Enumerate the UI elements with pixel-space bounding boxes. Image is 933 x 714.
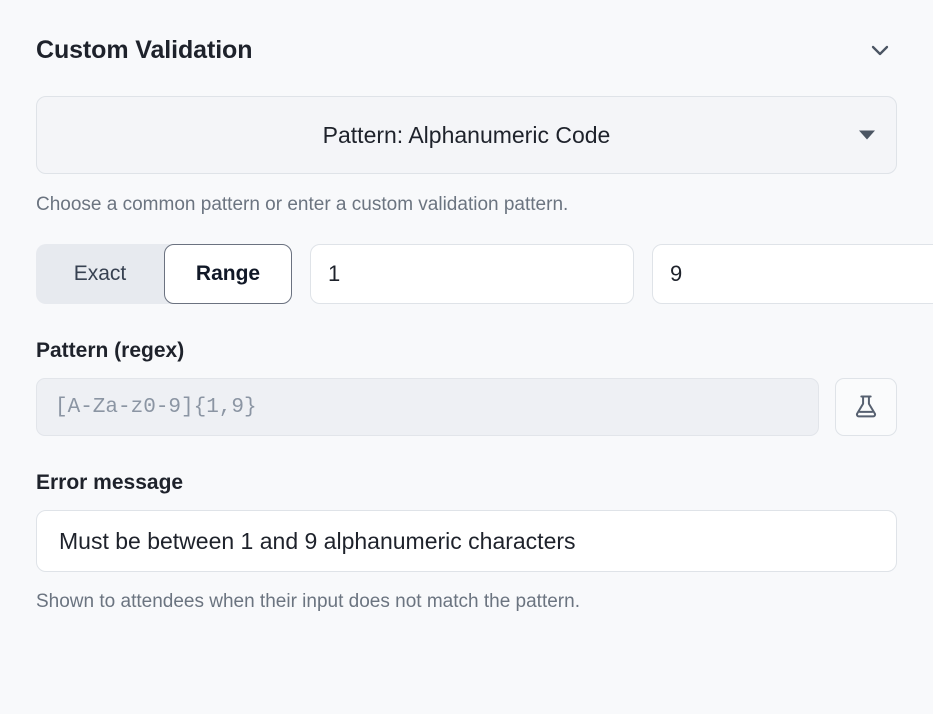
custom-validation-panel: Custom Validation Pattern: Alphanumeric …	[0, 0, 933, 714]
length-mode-row: Exact Range	[36, 244, 897, 304]
error-message-helper: Shown to attendees when their input does…	[36, 592, 897, 611]
pattern-field-row	[36, 378, 897, 436]
length-mode-exact-button[interactable]: Exact	[36, 244, 164, 304]
error-message-input[interactable]	[36, 510, 897, 572]
length-mode-segmented-control: Exact Range	[36, 244, 292, 304]
pattern-select[interactable]: Pattern: Alphanumeric Code	[36, 96, 897, 174]
flask-icon	[852, 393, 880, 421]
min-length-input[interactable]	[310, 244, 634, 304]
page-title: Custom Validation	[36, 38, 252, 63]
error-message-label: Error message	[36, 472, 897, 493]
section-header: Custom Validation	[36, 0, 897, 96]
pattern-select-helper: Choose a common pattern or enter a custo…	[36, 195, 897, 214]
max-length-input[interactable]	[652, 244, 933, 304]
test-pattern-button[interactable]	[835, 378, 897, 436]
pattern-field-label: Pattern (regex)	[36, 340, 897, 361]
section-collapse-toggle[interactable]	[863, 33, 897, 67]
pattern-select-wrap: Pattern: Alphanumeric Code	[36, 96, 897, 174]
chevron-down-icon	[868, 38, 892, 62]
length-mode-range-button[interactable]: Range	[164, 244, 292, 304]
pattern-regex-input[interactable]	[36, 378, 819, 436]
